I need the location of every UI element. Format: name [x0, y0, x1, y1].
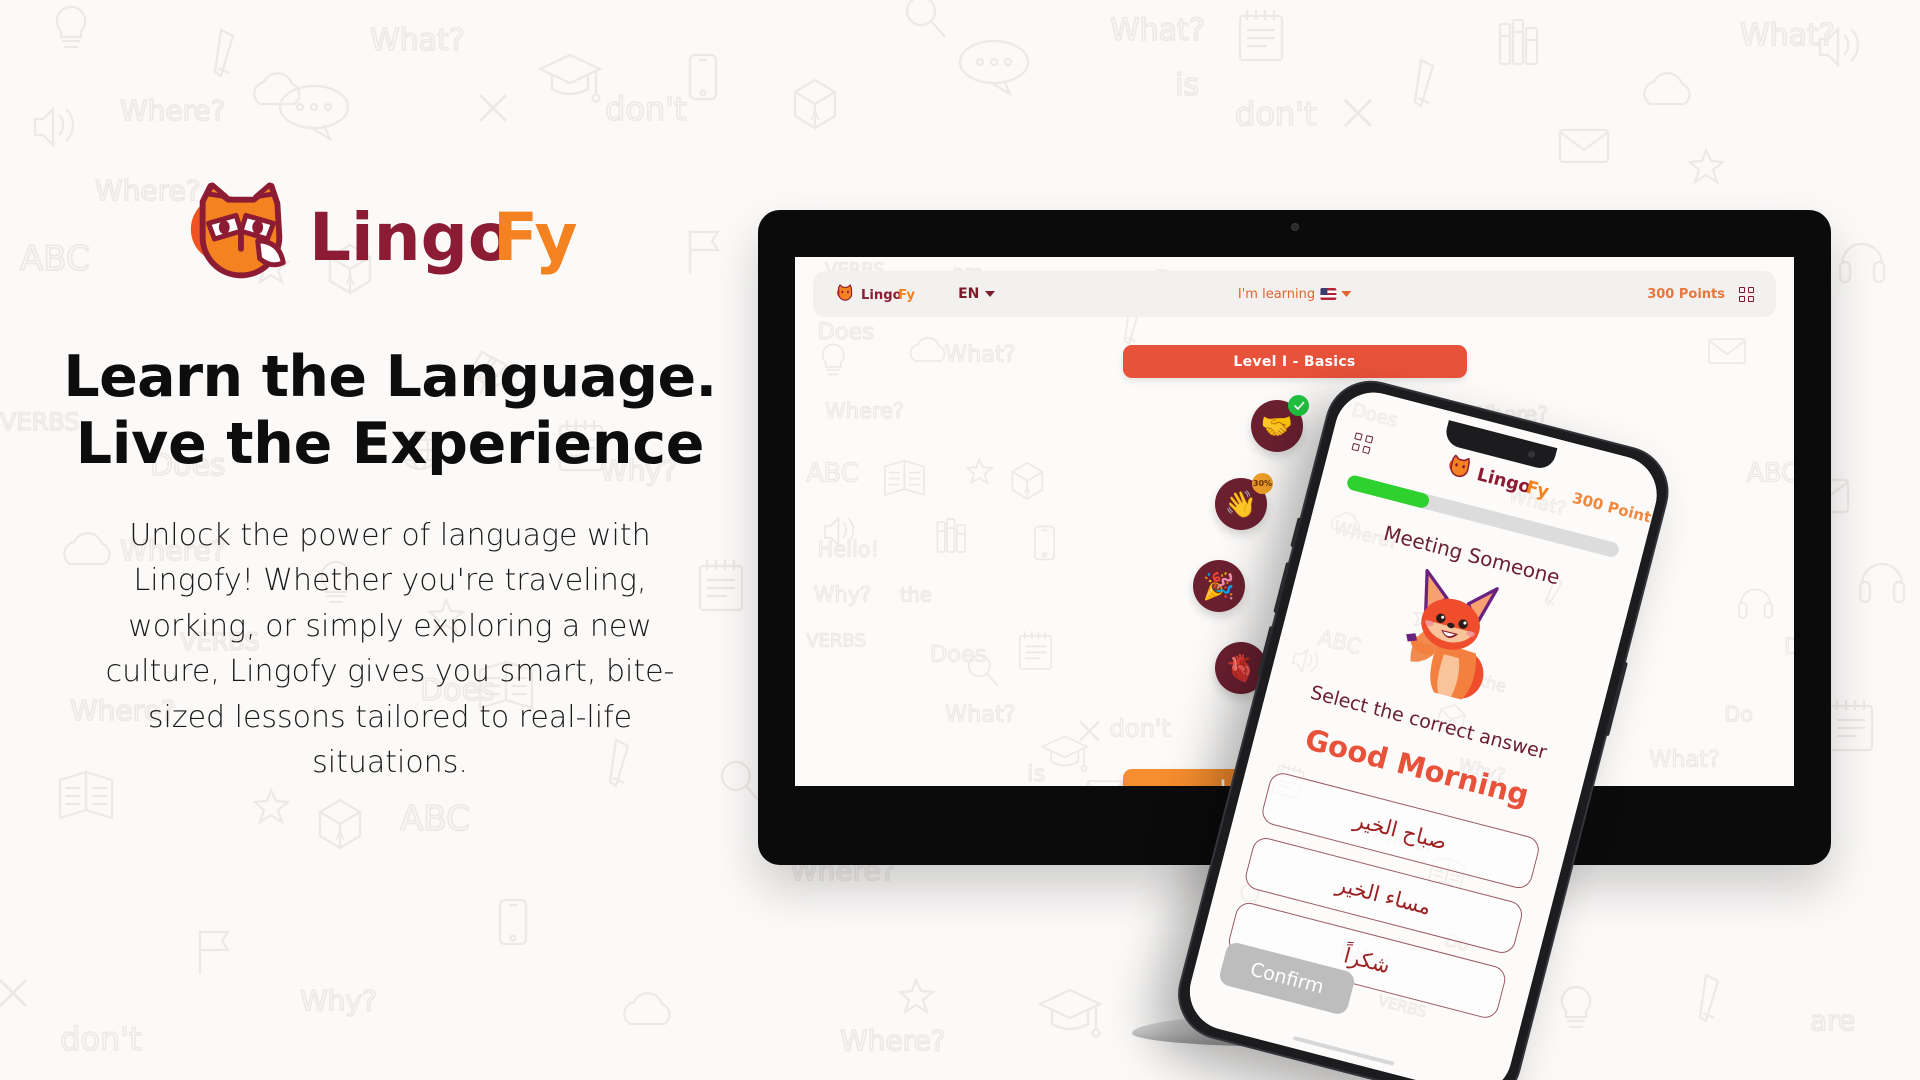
points-badge: 300 Points [1647, 287, 1725, 302]
page-title: Learn the Language. Live the Experience [60, 344, 720, 479]
completed-check-icon [1288, 395, 1309, 416]
lesson-node-handshake[interactable]: 🤝 [1251, 400, 1303, 452]
grid-menu-icon[interactable] [1351, 432, 1373, 454]
brand-lockup: Lingo Fy [60, 180, 720, 298]
progress-badge: 30% [1252, 473, 1273, 494]
us-flag-icon [1320, 288, 1336, 300]
party-emoji-icon: 🎉 [1203, 571, 1235, 602]
headline-line-2: Live the Experience [60, 411, 720, 478]
chevron-down-icon [1341, 291, 1351, 297]
grid-menu-icon[interactable] [1739, 287, 1754, 302]
heart-emoji-icon: 🫀 [1225, 653, 1257, 684]
svg-text:Fy: Fy [493, 199, 578, 276]
promo-page: A [0, 0, 1920, 1080]
language-code: EN [958, 286, 979, 302]
topbar-right-group: 300 Points [1647, 287, 1754, 302]
learning-label: I'm learning [1238, 287, 1315, 302]
chevron-down-icon [985, 291, 995, 297]
fox-logo-icon [181, 180, 299, 298]
app-brand-wordmark: Lingo Fy [861, 286, 932, 303]
brand-wordmark: Lingo Fy [309, 198, 609, 280]
app-brand[interactable]: Lingo Fy [835, 284, 932, 304]
lesson-node-wave[interactable]: 👋 30% [1215, 478, 1267, 530]
svg-text:Lingo: Lingo [309, 199, 513, 276]
wave-emoji-icon: 👋 [1225, 489, 1257, 520]
hero-text-column: Lingo Fy Learn the Language. Live the Ex… [60, 180, 720, 786]
language-selector[interactable]: EN [958, 286, 995, 302]
level-1-banner[interactable]: Level I - Basics [1123, 345, 1467, 378]
app-topbar: Lingo Fy EN I'm learning [813, 271, 1776, 317]
svg-text:Lingo: Lingo [861, 288, 902, 303]
device-mockups: Lingo Fy EN I'm learning [740, 195, 1870, 1065]
lesson-node-party[interactable]: 🎉 [1193, 560, 1245, 612]
handshake-emoji-icon: 🤝 [1261, 411, 1293, 442]
svg-text:Fy: Fy [898, 288, 915, 303]
hero-subcopy: Unlock the power of language with Lingof… [60, 513, 720, 787]
front-camera-icon [1527, 450, 1536, 459]
learning-language-selector[interactable]: I'm learning [1238, 287, 1351, 302]
fox-logo-icon [835, 284, 855, 304]
headline-line-1: Learn the Language. [60, 344, 720, 411]
svg-text:Fy: Fy [1524, 478, 1551, 503]
webcam-icon [1291, 223, 1299, 231]
